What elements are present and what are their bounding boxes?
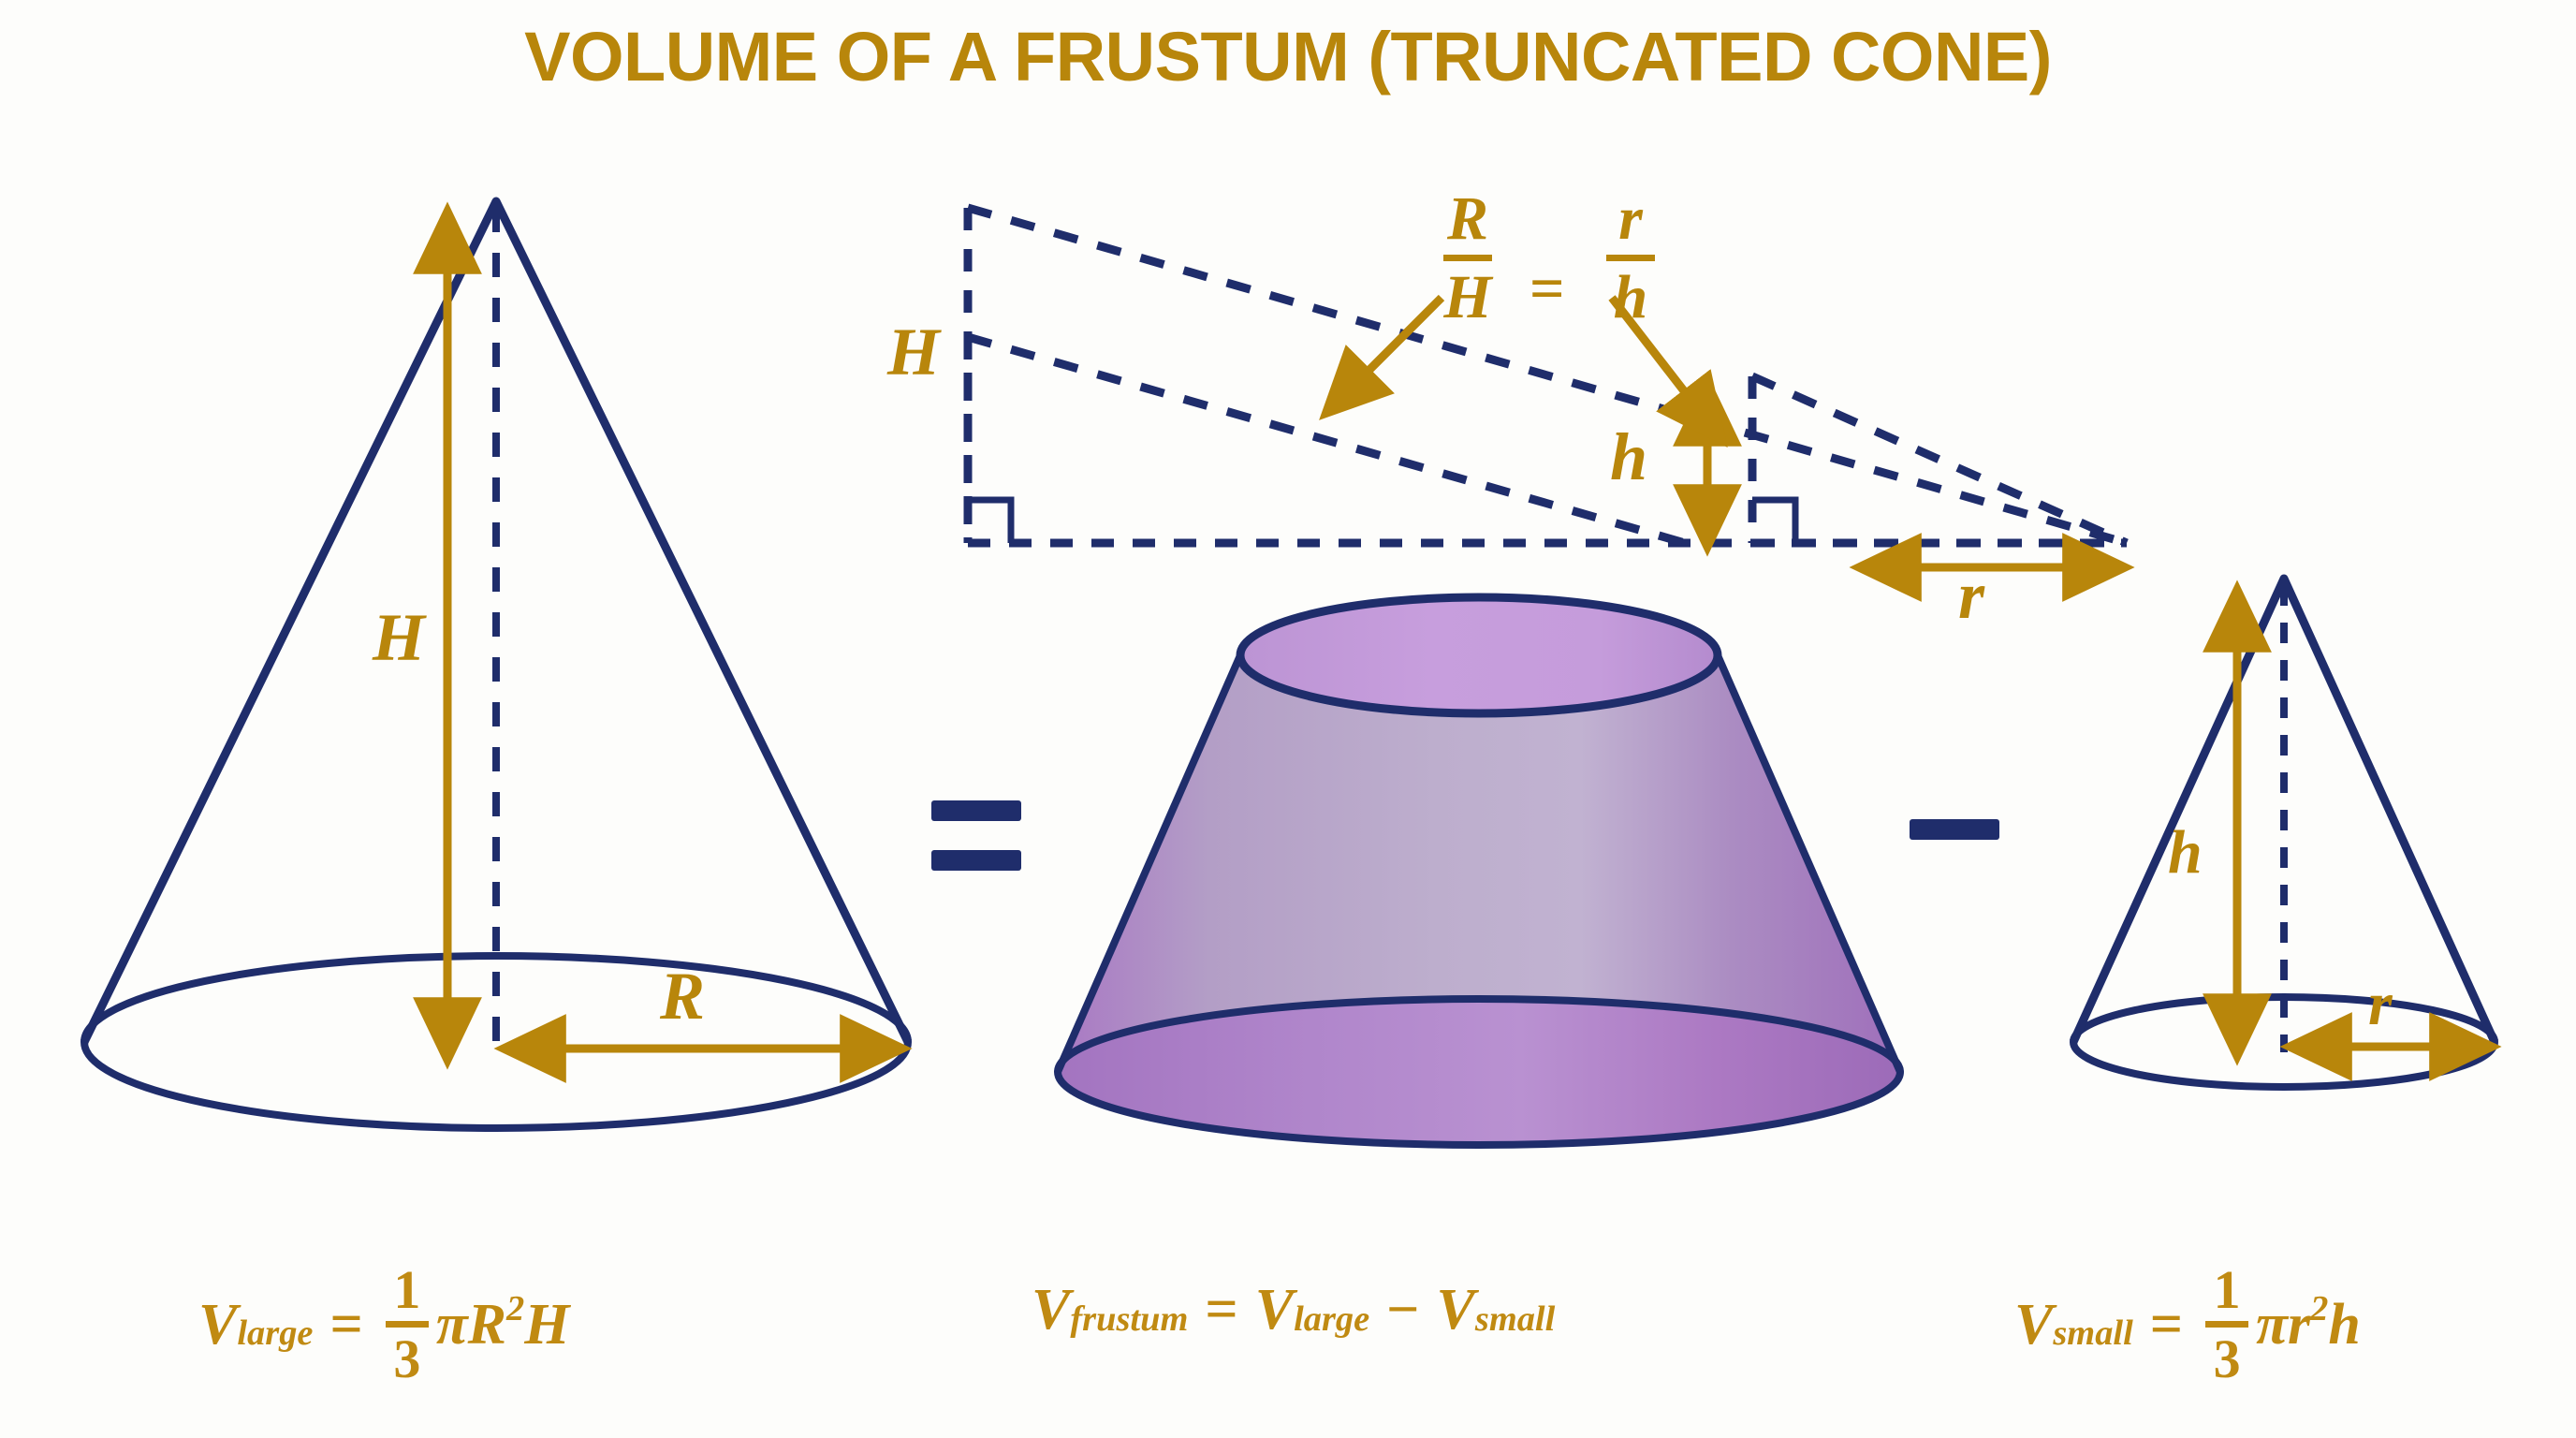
formula-frustum-subscript: frustum (1070, 1301, 1188, 1337)
formula-large-denominator: 3 (393, 1331, 420, 1387)
equals-operator-between-shapes (931, 800, 1021, 871)
small-triangle-hypotenuse (1752, 376, 2127, 543)
minus-bar (1910, 819, 1999, 840)
formula-small-pi: π (2256, 1296, 2288, 1354)
proportion-right-fraction: r h (1606, 187, 1655, 330)
formula-frustum-term2: V (1437, 1281, 1475, 1339)
formula-frustum-term1-subscript: large (1294, 1301, 1369, 1337)
formula-frustum-V: V (1032, 1281, 1070, 1339)
frustum-shape (1058, 597, 1900, 1145)
similar-triangles-H-label: H (887, 318, 940, 386)
large-triangle-right-angle-mark (968, 500, 1011, 543)
proportion-pointer-left (1327, 298, 1442, 412)
formula-frustum-term1: V (1255, 1281, 1294, 1339)
diagram-vector-layer (0, 0, 2576, 1438)
frustum-formula: Vfrustum = Vlarge − Vsmall (1032, 1281, 1555, 1339)
proportion-left-numerator: R (1447, 187, 1488, 250)
proportion-left-denominator: H (1443, 266, 1491, 329)
small-triangle-right-angle-mark (1752, 500, 1795, 543)
formula-large-fraction-bar (386, 1321, 429, 1328)
inner-triangle-hypotenuse (968, 337, 1685, 543)
formula-small-radius: r (2288, 1296, 2310, 1354)
formula-large-height: H (524, 1296, 569, 1354)
equals-bar-bottom (931, 850, 1021, 871)
small-cone-radius-label: r (2368, 974, 2393, 1035)
formula-small-fraction-bar (2205, 1321, 2248, 1328)
small-cone-height-label: h (2168, 822, 2203, 884)
formula-small-exponent: 2 (2310, 1291, 2328, 1327)
small-cone-formula: Vsmall = 1 3 πr2h (2014, 1262, 2361, 1387)
formula-frustum-term2-subscript: small (1475, 1301, 1555, 1337)
similar-triangles-r-label: r (1958, 562, 1984, 629)
formula-large-numerator: 1 (393, 1262, 420, 1317)
formula-large-V: V (198, 1296, 237, 1354)
formula-small-V: V (2014, 1296, 2053, 1354)
formula-small-height: h (2328, 1296, 2360, 1354)
formula-frustum-equals: = (1205, 1281, 1237, 1339)
frustum-top-ellipse (1240, 597, 1718, 713)
similar-triangles-h-label: h (1610, 423, 1647, 491)
large-cone-shape (84, 201, 908, 1128)
formula-small-fraction: 1 3 (2205, 1262, 2248, 1387)
small-cone-shape (2073, 579, 2495, 1087)
formula-large-exponent: 2 (506, 1291, 524, 1327)
formula-large-equals: = (329, 1296, 362, 1354)
proportion-left-fraction-bar (1443, 255, 1492, 261)
formula-small-denominator: 3 (2214, 1331, 2241, 1387)
formula-large-radius: R (468, 1296, 506, 1354)
formula-large-subscript: large (237, 1315, 313, 1351)
minus-operator-between-shapes (1910, 819, 1999, 840)
large-cone-height-label: H (373, 604, 425, 671)
proportion-right-fraction-bar (1606, 255, 1655, 261)
formula-small-equals: = (2150, 1296, 2183, 1354)
equals-bar-top (931, 800, 1021, 821)
diagram-canvas: VOLUME OF A FRUSTUM (TRUNCATED CONE) (0, 0, 2576, 1438)
formula-large-pi: π (436, 1296, 468, 1354)
formula-frustum-operator: − (1386, 1281, 1419, 1339)
proportion-right-denominator: h (1614, 266, 1648, 329)
proportion-equals-sign: = (1529, 258, 1565, 320)
formula-small-numerator: 1 (2214, 1262, 2241, 1317)
proportion-right-numerator: r (1618, 187, 1643, 250)
formula-large-fraction: 1 3 (386, 1262, 429, 1387)
large-cone-formula: Vlarge = 1 3 πR2H (198, 1262, 569, 1387)
formula-small-subscript: small (2053, 1315, 2132, 1351)
proportion-left-fraction: R H (1443, 187, 1492, 330)
large-cone-radius-label: R (660, 962, 705, 1030)
